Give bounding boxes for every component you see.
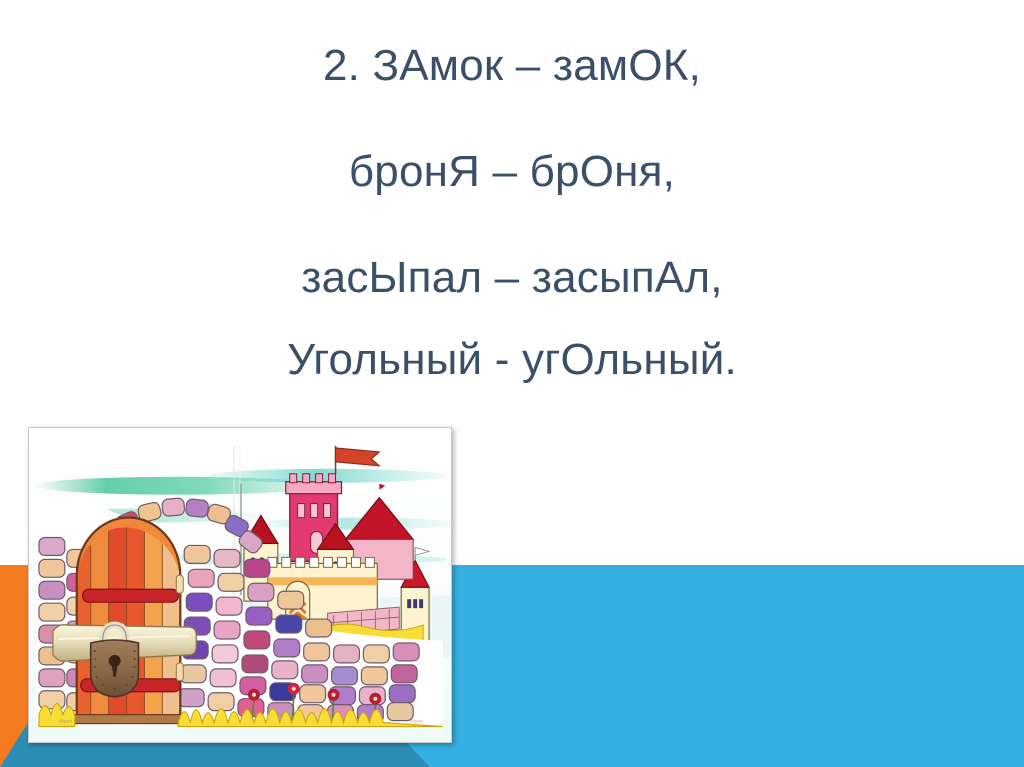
castle-with-locked-door-image: clipart clipart [29, 428, 451, 743]
text-line-2: бронЯ – брОня, [0, 150, 1024, 194]
text-line-1: 2. ЗАмок – замОК, [0, 44, 1024, 88]
castle-illustration-frame: clipart clipart [28, 427, 452, 743]
slide-text-block: 2. ЗАмок – замОК, бронЯ – брОня, засЫпал… [0, 44, 1024, 382]
slide-canvas: clipart clipart 2. ЗАмок – замОК, бронЯ … [0, 0, 1024, 767]
svg-text:clipart: clipart [59, 719, 73, 725]
text-line-4: Угольный - угОльный. [0, 338, 1024, 382]
svg-text:clipart: clipart [410, 719, 424, 725]
text-line-3: засЫпал – засыпАл, [0, 256, 1024, 300]
